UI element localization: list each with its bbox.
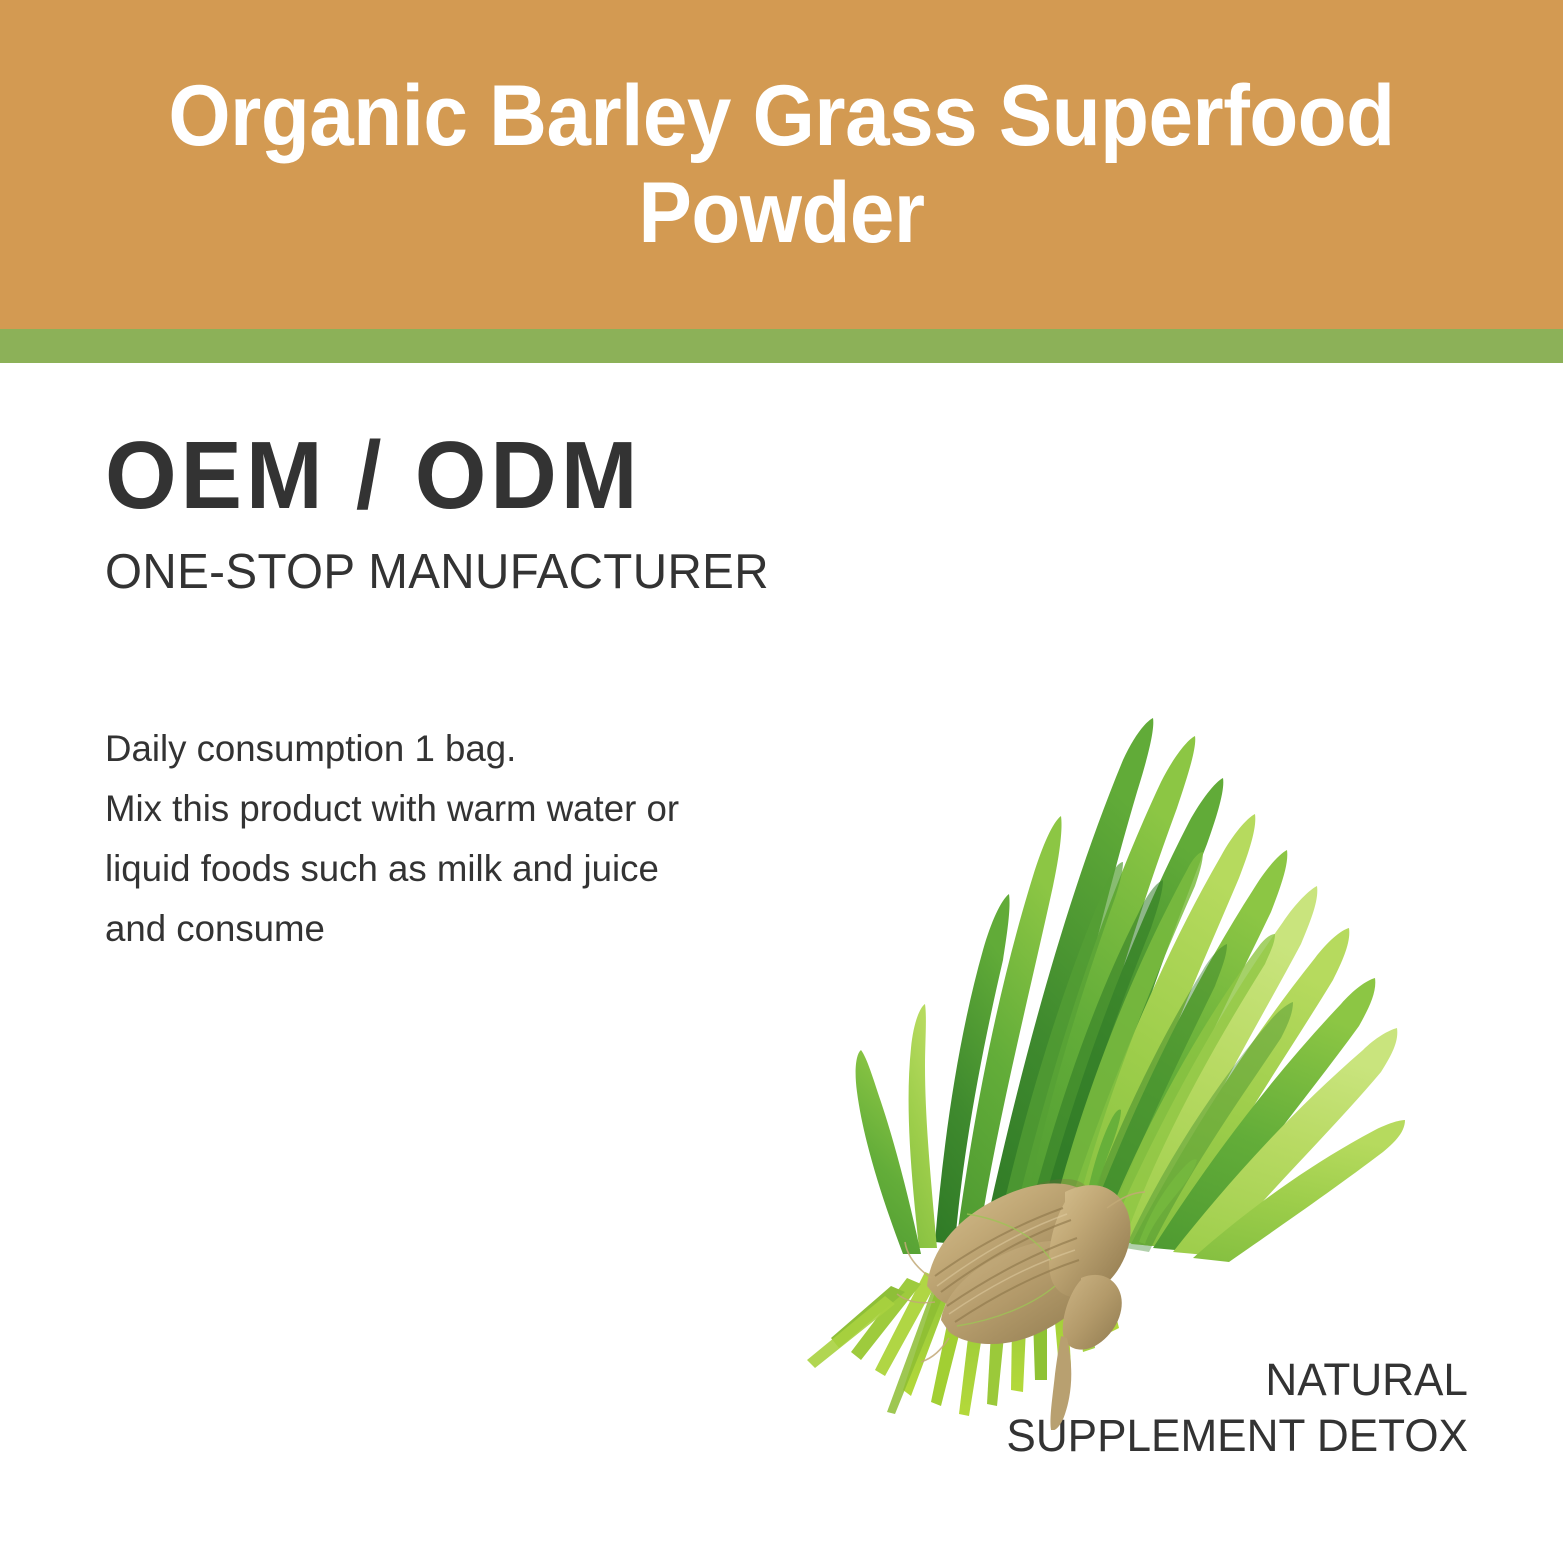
barley-grass-illustration (735, 430, 1435, 1430)
product-marketing-banner: Organic Barley Grass Superfood Powder OE… (0, 0, 1563, 1563)
usage-instructions-text: Daily consumption 1 bag. Mix this produc… (105, 719, 818, 959)
page-title: Organic Barley Grass Superfood Powder (106, 68, 1457, 261)
one-stop-manufacturer-subheading: ONE-STOP MANUFACTURER (105, 548, 803, 597)
grass-blades (856, 718, 1405, 1262)
header-band: Organic Barley Grass Superfood Powder (0, 0, 1563, 329)
info-column: OEM / ODM ONE-STOP MANUFACTURER Daily co… (105, 428, 825, 959)
divider-stripe (0, 329, 1563, 363)
barley-grass-image (735, 430, 1435, 1430)
oem-odm-heading: OEM / ODM (105, 428, 796, 524)
